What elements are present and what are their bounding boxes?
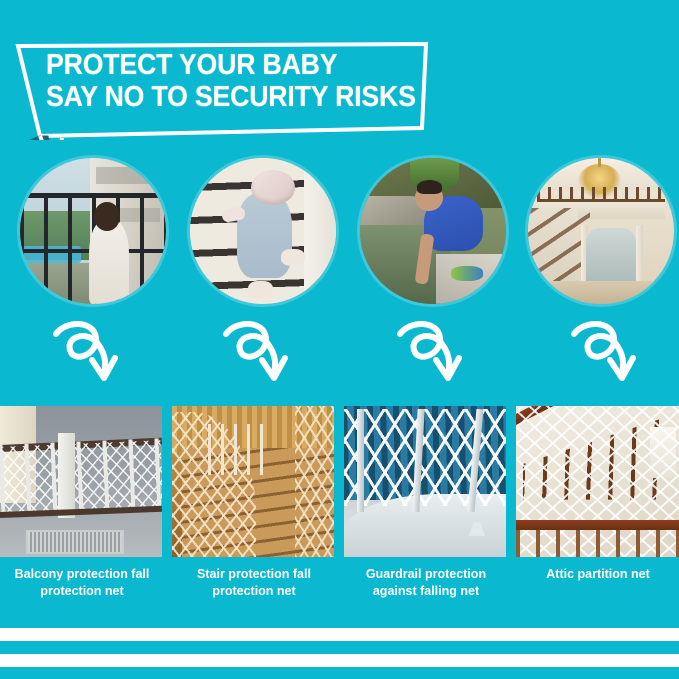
hazard-photo-balcony <box>20 158 166 304</box>
headline-banner: PROTECT YOUR BABY SAY NO TO SECURITY RIS… <box>10 40 430 140</box>
hazard-photo-pond <box>360 158 506 304</box>
product-photo-stair-net <box>172 406 334 557</box>
stair-net-image <box>172 406 334 557</box>
hazard-photo-stairs <box>190 158 336 304</box>
banner-text-block: PROTECT YOUR BABY SAY NO TO SECURITY RIS… <box>46 50 396 112</box>
product-photo-guardrail-net <box>344 406 506 557</box>
banner-line-1: PROTECT YOUR BABY <box>46 50 396 81</box>
product-photo-row <box>0 406 679 557</box>
curly-down-arrow-icon-2 <box>222 320 294 382</box>
caption-guardrail-net: Guardrail protection against falling net <box>350 566 502 599</box>
guardrail-net-image <box>344 406 506 557</box>
product-photo-attic-net <box>516 406 679 557</box>
attic-net-image <box>516 406 679 557</box>
caption-attic-net: Attic partition net <box>522 566 674 583</box>
loft-hazard-image <box>528 158 674 304</box>
hazard-photo-row <box>0 158 679 308</box>
stairs-hazard-image <box>190 158 336 304</box>
caption-stair-net: Stair protection fall protection net <box>178 566 330 599</box>
curly-down-arrow-icon-3 <box>396 320 468 382</box>
infographic-canvas: PROTECT YOUR BABY SAY NO TO SECURITY RIS… <box>0 0 679 679</box>
pond-hazard-image <box>360 158 506 304</box>
footer-stripe-2 <box>0 654 679 667</box>
footer-stripe-1 <box>0 628 679 641</box>
balcony-hazard-image <box>20 158 166 304</box>
product-photo-balcony-net <box>0 406 162 557</box>
caption-balcony-net: Balcony protection fall protection net <box>6 566 158 599</box>
curly-down-arrow-icon-4 <box>570 320 642 382</box>
hazard-photo-loft <box>528 158 674 304</box>
curly-down-arrow-icon-1 <box>52 320 124 382</box>
banner-line-2: SAY NO TO SECURITY RISKS <box>46 82 396 113</box>
balcony-net-image <box>0 406 162 557</box>
